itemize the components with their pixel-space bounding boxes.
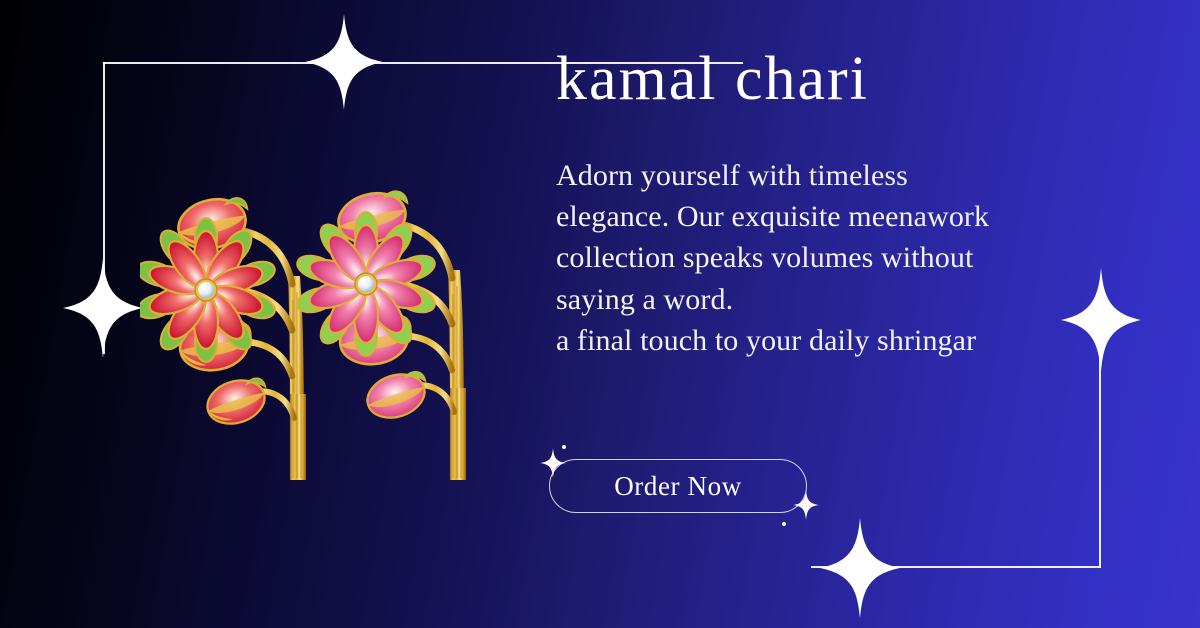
sparkle-dot-icon bbox=[562, 445, 566, 449]
page-title: kamal chari bbox=[556, 44, 1156, 115]
cta-container: Order Now bbox=[549, 459, 807, 513]
corner-frame-bottom-right bbox=[1100, 567, 1101, 568]
promo-banner: kamal chari Adorn yourself with timeless… bbox=[0, 0, 1200, 628]
description-text: Adorn yourself with timeless elegance. O… bbox=[556, 155, 1156, 360]
sparkle-icon bbox=[305, 14, 383, 110]
sparkle-icon bbox=[63, 258, 143, 358]
content-column: kamal chari Adorn yourself with timeless… bbox=[556, 44, 1156, 361]
order-now-button[interactable]: Order Now bbox=[549, 459, 807, 513]
description-block: Adorn yourself with timeless elegance. O… bbox=[556, 155, 1156, 360]
earring-left bbox=[140, 191, 306, 480]
sparkle-icon bbox=[820, 518, 900, 618]
sparkle-dot-icon bbox=[782, 522, 786, 526]
product-image-earrings bbox=[140, 180, 500, 500]
corner-frame-top-left bbox=[103, 62, 104, 63]
earring-right bbox=[294, 185, 466, 480]
